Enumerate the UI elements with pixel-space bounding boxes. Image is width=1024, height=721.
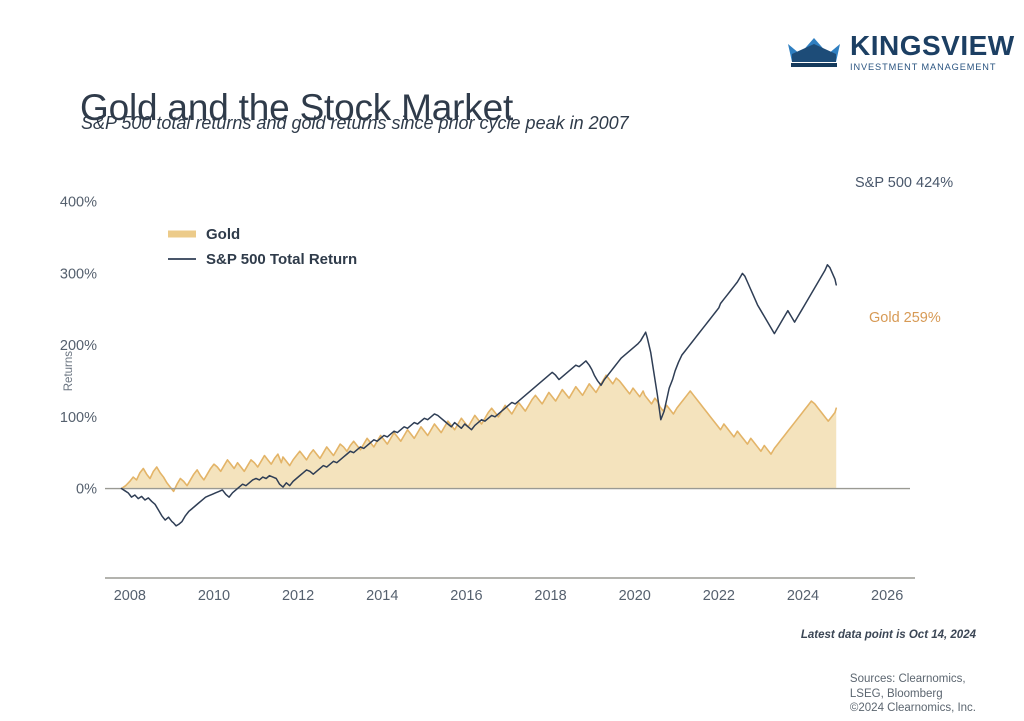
gold-area-fill xyxy=(121,375,836,491)
crown-icon xyxy=(786,32,842,72)
y-axis-tick-labels: 0%100%200%300%400% xyxy=(60,195,97,498)
page-subtitle: S&P 500 total returns and gold returns s… xyxy=(81,113,629,134)
x-tick-2012: 2012 xyxy=(282,588,314,604)
legend-label-spx: S&P 500 Total Return xyxy=(206,251,357,268)
x-tick-2020: 2020 xyxy=(619,588,651,604)
x-tick-2010: 2010 xyxy=(198,588,230,604)
sources-note: Sources: Clearnomics, LSEG, Bloomberg ©2… xyxy=(850,672,976,716)
x-tick-2024: 2024 xyxy=(787,588,819,604)
y-tick-100%: 100% xyxy=(60,410,97,426)
x-tick-2008: 2008 xyxy=(114,588,146,604)
y-axis-title: Returns xyxy=(63,351,75,392)
x-tick-2022: 2022 xyxy=(703,588,735,604)
legend-label-gold: Gold xyxy=(206,226,240,243)
chart-container: 0%100%200%300%400% 200820102012201420162… xyxy=(0,140,1024,610)
y-tick-300%: 300% xyxy=(60,266,97,282)
x-axis-tick-labels: 2008201020122014201620182020202220242026 xyxy=(114,588,904,604)
chart-legend: GoldS&P 500 Total Return xyxy=(168,226,357,268)
y-tick-0%: 0% xyxy=(76,482,97,498)
gold-end-label: Gold 259% xyxy=(869,310,941,326)
gold-area-series xyxy=(121,375,836,491)
slide-root: KINGSVIEW INVESTMENT MANAGEMENT Gold and… xyxy=(0,0,1024,721)
x-tick-2016: 2016 xyxy=(450,588,482,604)
spx-end-label: S&P 500 424% xyxy=(855,175,953,191)
x-tick-2018: 2018 xyxy=(534,588,566,604)
x-tick-2026: 2026 xyxy=(871,588,903,604)
y-tick-400%: 400% xyxy=(60,195,97,211)
latest-data-note: Latest data point is Oct 14, 2024 xyxy=(801,629,976,641)
brand-name: KINGSVIEW xyxy=(850,32,1015,60)
x-tick-2014: 2014 xyxy=(366,588,398,604)
brand-tagline: INVESTMENT MANAGEMENT xyxy=(850,63,1015,72)
logo-wordmark: KINGSVIEW INVESTMENT MANAGEMENT xyxy=(850,32,1015,72)
returns-chart: 0%100%200%300%400% 200820102012201420162… xyxy=(0,140,1024,610)
kingsview-logo: KINGSVIEW INVESTMENT MANAGEMENT xyxy=(786,26,976,78)
